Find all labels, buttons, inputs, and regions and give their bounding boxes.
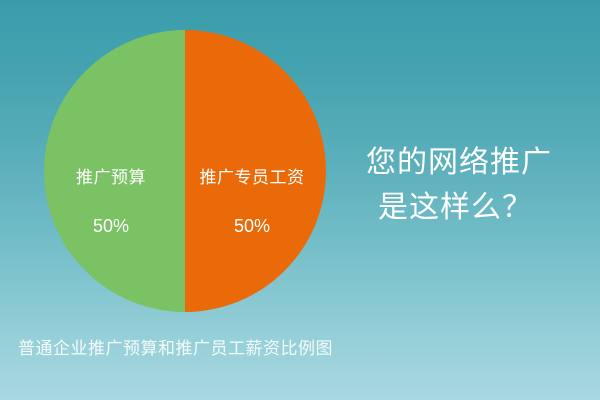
pie-slice-value-staff-salary: 50% <box>186 216 318 236</box>
pie-chart: 推广预算 50% 推广专员工资 50% <box>44 30 326 312</box>
pie-slice-label-staff-salary: 推广专员工资 <box>186 168 318 188</box>
headline: 您的网络推广 是这样么？ <box>366 140 552 230</box>
chart-caption: 普通企业推广预算和推广员工薪资比例图 <box>18 338 333 360</box>
headline-line-1: 您的网络推广 <box>366 140 552 185</box>
pie-slice-labels: 推广预算 50% 推广专员工资 50% <box>44 30 326 312</box>
pie-slice-label-promotion-budget: 推广预算 <box>44 168 178 188</box>
pie-slice-value-promotion-budget: 50% <box>44 216 178 236</box>
headline-line-2: 是这样么？ <box>366 185 552 230</box>
promotion-budget-poster: 推广预算 50% 推广专员工资 50% 您的网络推广 是这样么？ 普通企业推广预… <box>0 0 600 400</box>
